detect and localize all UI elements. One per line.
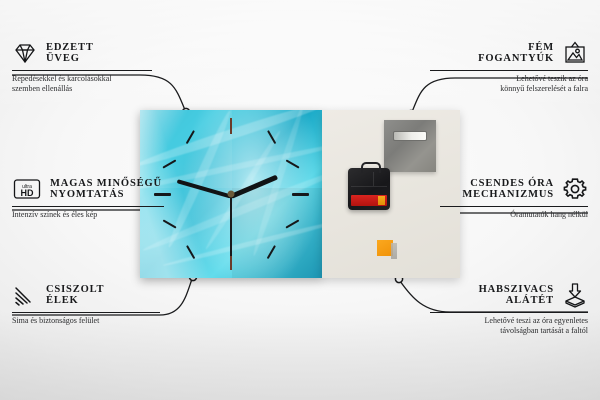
glass-wall-clock [140, 110, 322, 278]
callout-subtitle: Lehetővé teszi az óra egyenletes távolsá… [430, 316, 588, 336]
clock-second-hand [230, 194, 232, 256]
diamond-icon [12, 40, 38, 66]
callout-rule [430, 70, 588, 71]
callout-title: HABSZIVACS ALÁTÉT [479, 284, 554, 307]
foam-spacer-pad [377, 240, 393, 256]
mechanism-seam [373, 172, 374, 186]
gear-icon [562, 176, 588, 202]
metal-hanger-plate [384, 120, 436, 172]
callout-title: CSENDES ÓRA MECHANIZMUS [462, 178, 554, 201]
callout-subtitle: Repedésekkel és karcolásokkal szemben el… [12, 74, 152, 94]
callout-foam-pad[interactable]: HABSZIVACS ALÁTÉT Lehetővé teszi az óra … [430, 282, 588, 336]
mechanism-hanger-loop [361, 162, 381, 173]
clock-glass-quadrant [232, 188, 322, 278]
clock-center-hub [228, 191, 235, 198]
clock-tick-12 [230, 118, 232, 134]
callout-title: MAGAS MINŐSÉGŰ NYOMTATÁS [50, 178, 162, 201]
ultra-hd-icon: ultra HD [12, 176, 42, 202]
callout-rule [12, 70, 152, 71]
hanger-slot [393, 131, 427, 141]
callout-title: CSISZOLT ÉLEK [46, 284, 104, 307]
callout-tempered-glass[interactable]: EDZETT ÜVEG Repedésekkel és karcolásokka… [12, 40, 152, 94]
callout-subtitle: Sima és biztonságos felület [12, 316, 160, 326]
battery [351, 195, 387, 206]
callout-title: EDZETT ÜVEG [46, 42, 94, 65]
clock-mechanism [348, 168, 390, 210]
callout-rule [12, 206, 164, 207]
mechanism-seam [351, 186, 387, 187]
infographic-stage: EDZETT ÜVEG Repedésekkel és karcolásokka… [0, 0, 600, 400]
svg-text:HD: HD [21, 188, 34, 198]
product-composite [140, 110, 460, 278]
callout-title: FÉM FOGANTYÚK [478, 42, 554, 65]
callout-rule [430, 312, 588, 313]
picture-hanger-icon [562, 40, 588, 66]
callout-subtitle: Intenzív színek és éles kép [12, 210, 164, 220]
clock-tick-3 [292, 193, 309, 196]
callout-rule [12, 312, 160, 313]
callout-rule [440, 206, 588, 207]
callout-polished-edges[interactable]: CSISZOLT ÉLEK Sima és biztonságos felüle… [12, 282, 160, 326]
polished-edges-icon [12, 282, 38, 308]
press-down-icon [562, 282, 588, 308]
callout-silent-mechanism[interactable]: CSENDES ÓRA MECHANIZMUS Óramutatók hang … [440, 176, 588, 220]
clock-tick-2 [285, 159, 299, 169]
clock-tick-6 [230, 254, 232, 270]
callout-subtitle: Lehetővé teszik az óra könnyű felszerelé… [430, 74, 588, 94]
callout-metal-handles[interactable]: FÉM FOGANTYÚK Lehetővé teszik az óra kön… [430, 40, 588, 94]
callout-subtitle: Óramutatók hang nélkül [440, 210, 588, 220]
callout-high-quality-print[interactable]: ultra HD MAGAS MINŐSÉGŰ NYOMTATÁS Intenz… [12, 176, 164, 220]
